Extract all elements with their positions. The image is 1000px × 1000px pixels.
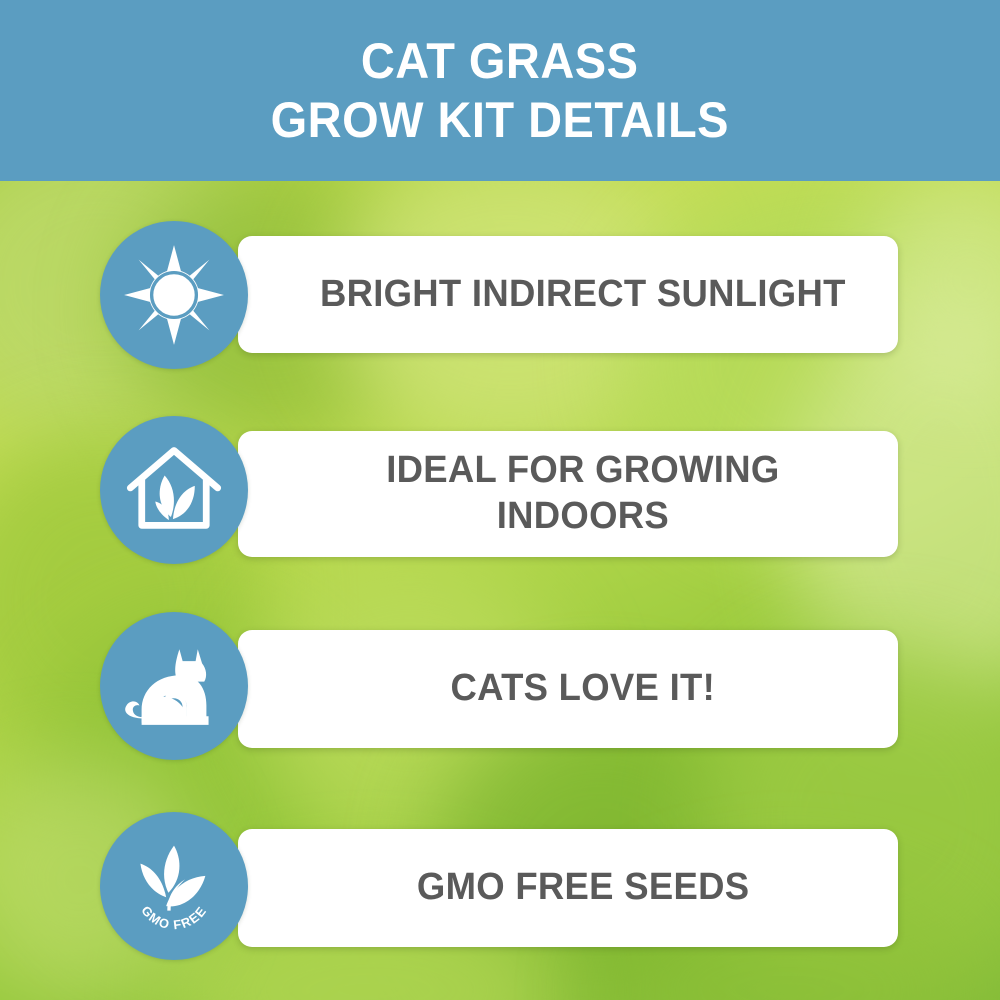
feature-label-indoors: IDEAL FOR GROWING INDOORS <box>386 448 779 539</box>
feature-card-indoors: IDEAL FOR GROWING INDOORS <box>238 431 898 557</box>
feature-card-gmo-free: GMO FREE SEEDS <box>238 829 898 947</box>
page-header: CAT GRASS GROW KIT DETAILS <box>0 0 1000 181</box>
page-title-line-2: GROW KIT DETAILS <box>271 91 729 150</box>
gmo-free-badge-text: GMO FREE <box>138 903 209 933</box>
feature-card-cats: CATS LOVE IT! <box>238 630 898 748</box>
gmo-free-leaf-icon: GMO FREE <box>100 812 248 960</box>
cat-icon <box>100 612 248 760</box>
feature-card-sunlight: BRIGHT INDIRECT SUNLIGHT <box>238 236 898 353</box>
house-plant-icon <box>100 416 248 564</box>
feature-label-cats: CATS LOVE IT! <box>451 666 716 712</box>
sun-icon <box>100 221 248 369</box>
feature-label-indoors-line-1: IDEAL FOR GROWING <box>386 449 779 491</box>
page-title-line-1: CAT GRASS <box>361 32 639 91</box>
feature-label-gmo-free: GMO FREE SEEDS <box>417 865 749 911</box>
feature-label-sunlight: BRIGHT INDIRECT SUNLIGHT <box>320 272 846 318</box>
feature-label-indoors-line-2: INDOORS <box>497 495 669 537</box>
infographic-page: CAT GRASS GROW KIT DETAILS BRIGHT INDIRE… <box>0 0 1000 1000</box>
